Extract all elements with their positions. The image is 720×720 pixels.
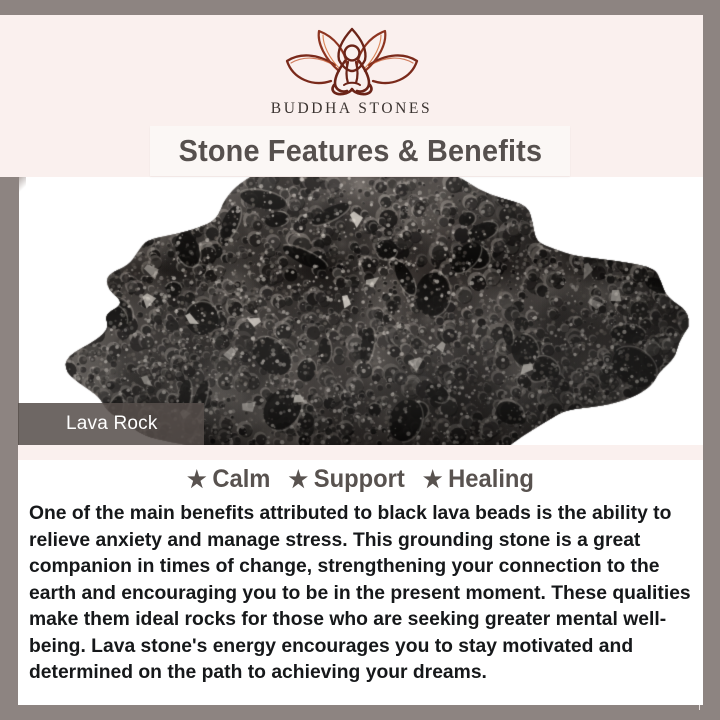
left-frame-bevel: [19, 177, 26, 193]
body-paragraph: One of the main benefits attributed to b…: [29, 500, 691, 686]
benefit-item-1: ★ Support: [288, 465, 404, 494]
lotus-meditation-icon: [277, 25, 427, 97]
photo-caption-label: Lava Rock: [66, 413, 158, 435]
benefit-item-2: ★ Healing: [423, 465, 534, 494]
brand-name: BUDDHA STONES: [271, 100, 432, 118]
photo-caption: Lava Rock: [18, 403, 204, 445]
star-icon: ★: [187, 468, 207, 491]
content-top-strip: [18, 445, 703, 460]
benefit-item-0: ★ Calm: [187, 465, 270, 494]
title-banner: Stone Features & Benefits: [150, 126, 570, 176]
star-icon: ★: [288, 468, 308, 491]
brand-logo-block: BUDDHA STONES: [0, 25, 703, 118]
benefit-label-2: Healing: [448, 465, 534, 494]
stone-features-poster: BUDDHA STONES Stone Features & Benefits …: [0, 0, 720, 720]
content-section: ★ Calm ★ Support ★ Healing One of the ma…: [18, 445, 703, 705]
benefit-label-0: Calm: [212, 465, 270, 494]
star-icon: ★: [423, 468, 443, 491]
left-frame-band: [0, 177, 19, 705]
benefit-label-1: Support: [314, 465, 405, 494]
benefits-row: ★ Calm ★ Support ★ Healing: [35, 465, 686, 494]
page-title: Stone Features & Benefits: [178, 133, 542, 169]
